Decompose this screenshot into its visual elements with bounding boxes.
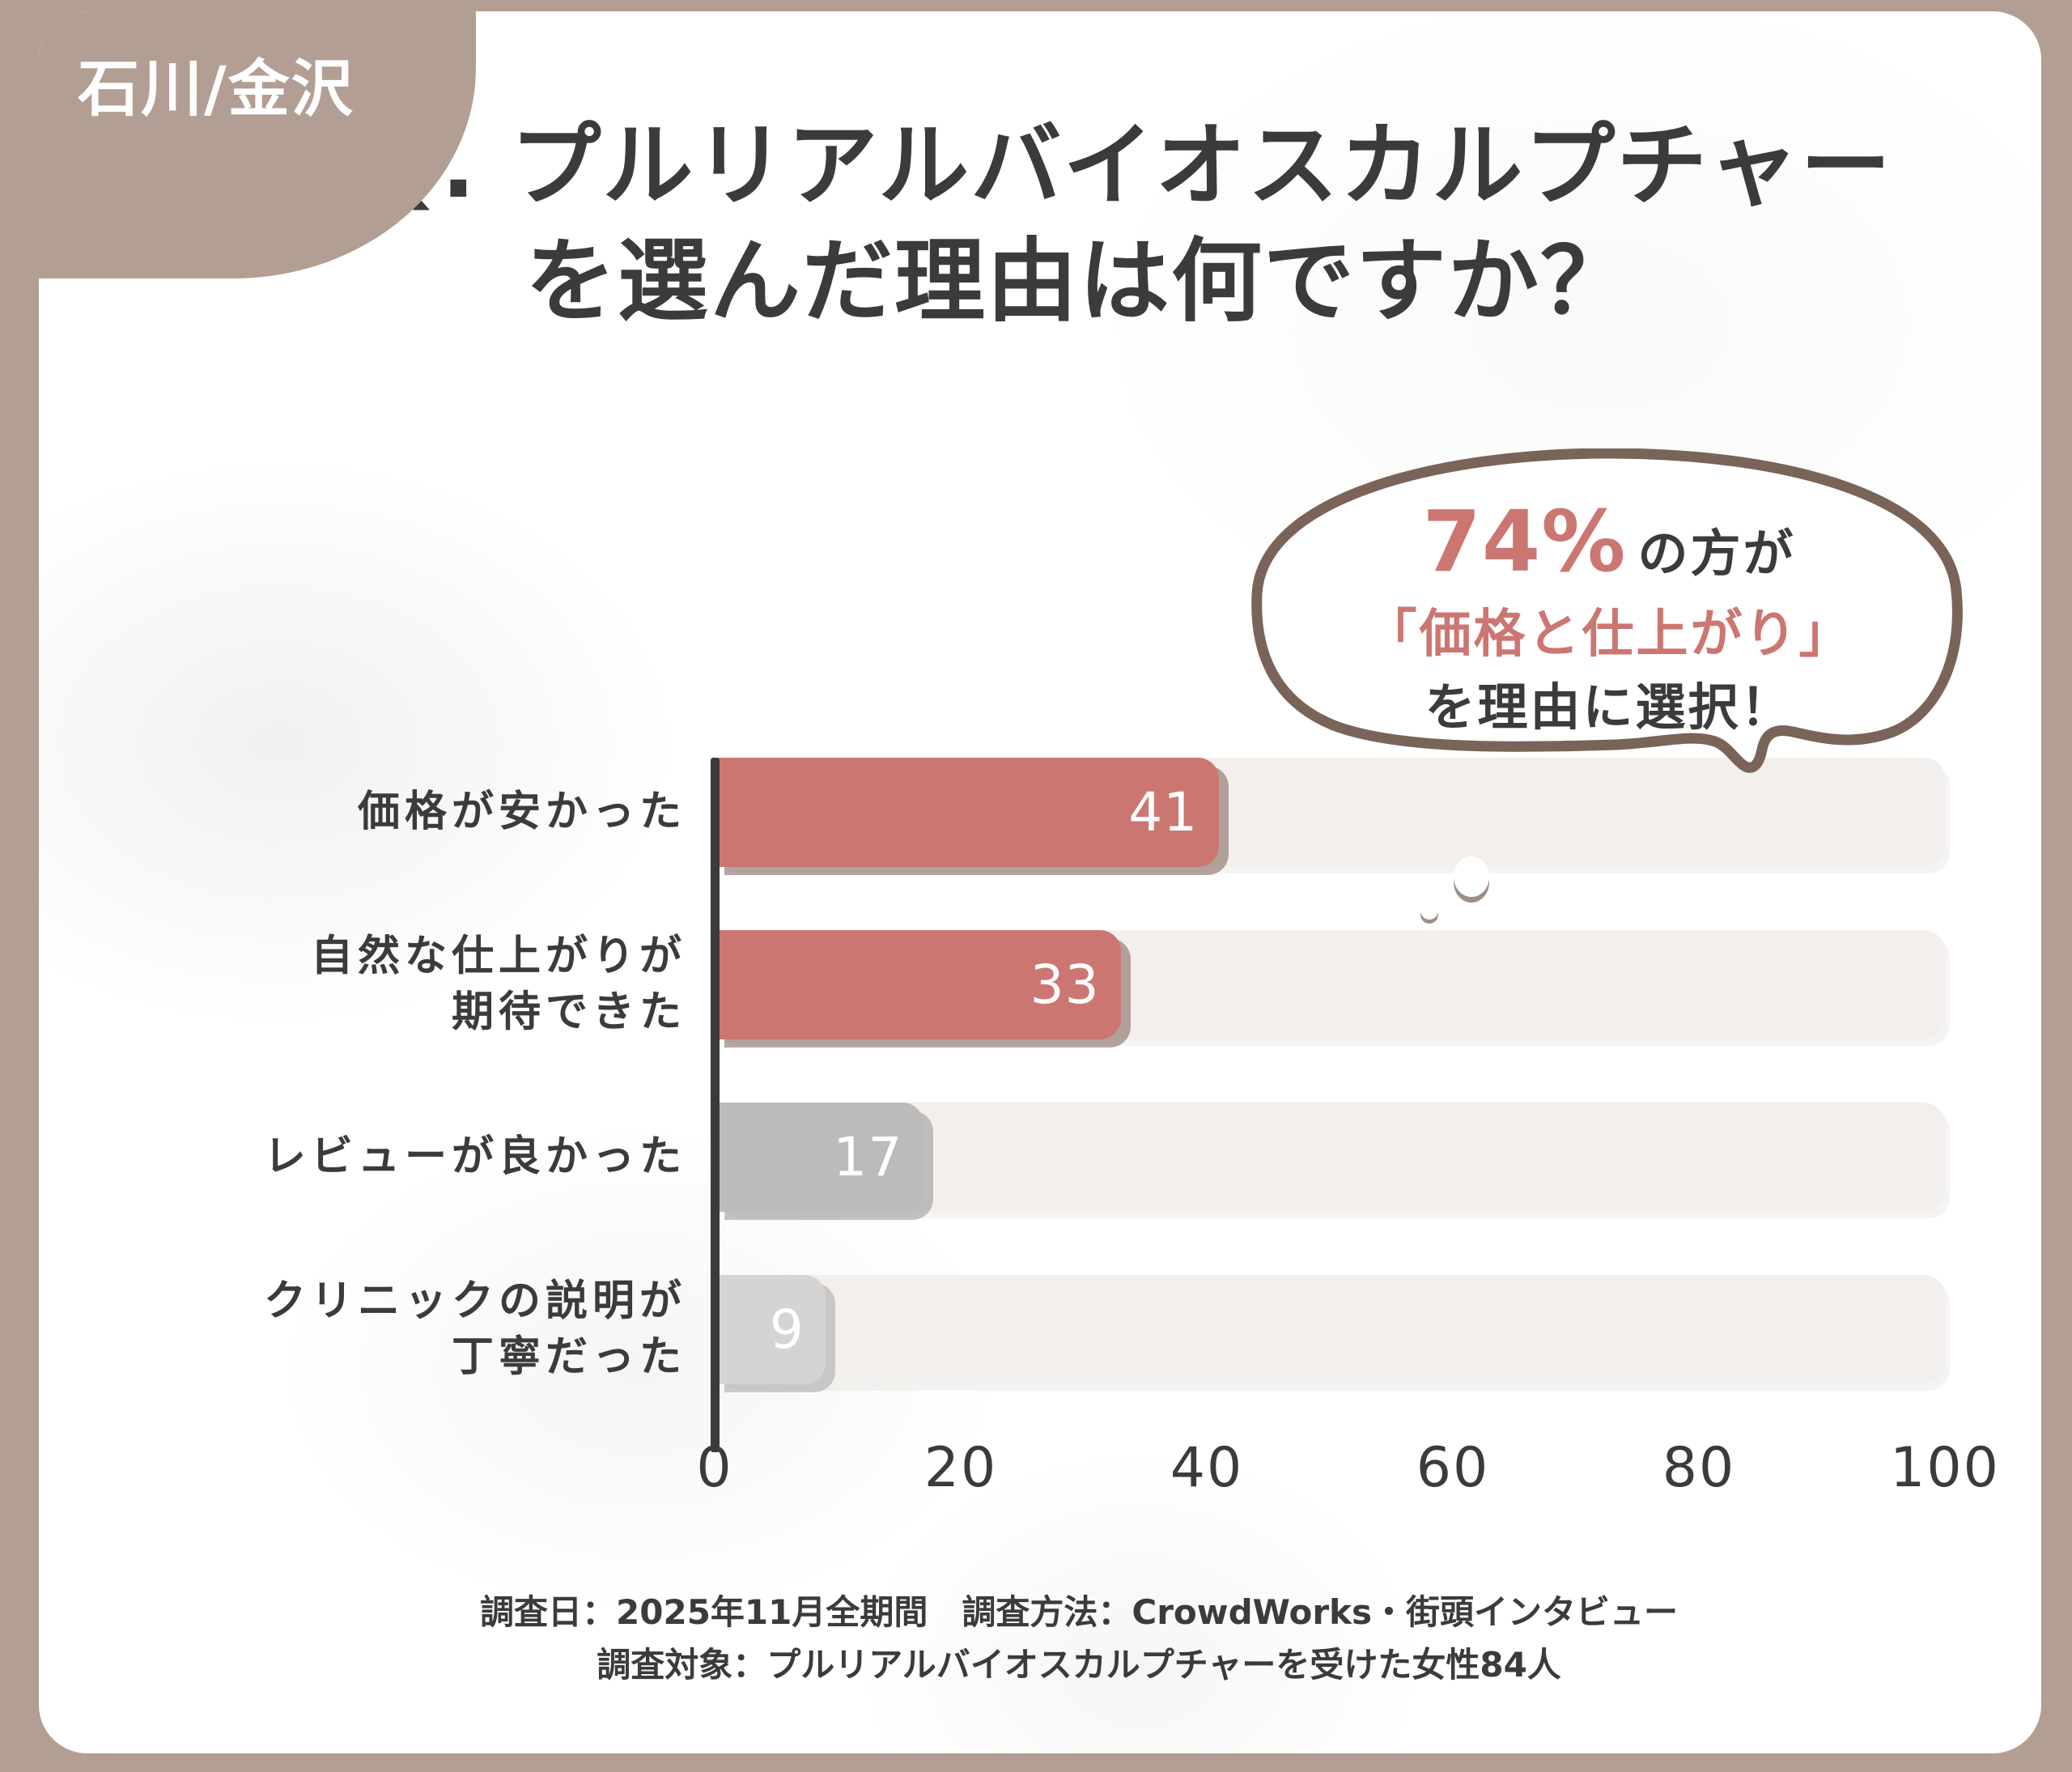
x-axis-tick-label: 20	[924, 1436, 998, 1500]
bar-track	[715, 1275, 1945, 1384]
bar-value-label: 9	[770, 1303, 805, 1357]
bar-chart-row: 自然な仕上がりが 期待できた33	[78, 930, 2041, 1039]
callout-tail: を理由に選択！	[1249, 675, 1969, 741]
bar-value-label: 33	[1030, 958, 1100, 1012]
survey-footnote-line-1: 調査日：2025年11月全期間 調査方法：CrowdWorks・街頭インタビュー	[78, 1586, 2041, 1638]
callout-bubble: 74%の方が 「価格と仕上がり」 を理由に選択！	[1249, 448, 1969, 797]
y-axis-line	[711, 758, 720, 1452]
bar-row-label: 価格が安かった	[358, 784, 686, 841]
bar-value-label: 17	[833, 1131, 902, 1184]
infographic-card: 石川/金沢 Q. プルリアルバイオスカルプチャー を選んだ理由は何ですか？ 74…	[39, 11, 2041, 1753]
bar-fill: 33	[715, 930, 1121, 1039]
callout-percent-suffix: の方が	[1626, 524, 1795, 583]
bar-fill: 9	[715, 1275, 826, 1384]
x-axis-tick-label: 80	[1662, 1436, 1736, 1500]
x-axis-tick-label: 0	[696, 1436, 732, 1500]
bar-fill: 17	[715, 1103, 923, 1212]
x-axis-tick-label: 60	[1416, 1436, 1490, 1500]
callout-text: 74%の方が 「価格と仕上がり」 を理由に選択！	[1249, 487, 1969, 741]
x-axis-tick-label: 40	[1170, 1436, 1244, 1500]
x-axis-tick-label: 100	[1890, 1436, 2000, 1500]
callout-line-percent: 74%の方が	[1249, 487, 1969, 597]
survey-footnote: 調査日：2025年11月全期間 調査方法：CrowdWorks・街頭インタビュー…	[78, 1586, 2041, 1691]
bar-row-label: レビューが良かった	[264, 1129, 686, 1186]
bar-row-label: クリニックの説明が 丁寧だった	[264, 1273, 686, 1386]
bar-chart-row: レビューが良かった17	[78, 1103, 2041, 1212]
bar-row-label: 自然な仕上がりが 期待できた	[311, 928, 686, 1041]
bar-fill: 41	[715, 758, 1219, 867]
callout-bubble-dot-small	[1420, 902, 1438, 920]
region-badge-label: 石川/金沢	[78, 39, 355, 128]
x-axis-ticks: 020406080100	[78, 1436, 2041, 1533]
bar-chart-row: クリニックの説明が 丁寧だった9	[78, 1275, 2041, 1384]
bar-value-label: 41	[1128, 786, 1198, 839]
page-title-line-2: を選んだ理由は何ですか？	[78, 224, 2041, 340]
callout-percent-value: 74%	[1423, 492, 1627, 591]
callout-bubble-dot-large	[1454, 856, 1489, 897]
callout-highlight: 「価格と仕上がり」	[1249, 601, 1969, 669]
survey-footnote-line-2: 調査対象：プルリアルバイオスカルプチャーを受けた女性84人	[78, 1638, 2041, 1691]
bar-chart: 価格が安かった41自然な仕上がりが 期待できた33レビューが良かった17クリニッ…	[78, 740, 2041, 1549]
